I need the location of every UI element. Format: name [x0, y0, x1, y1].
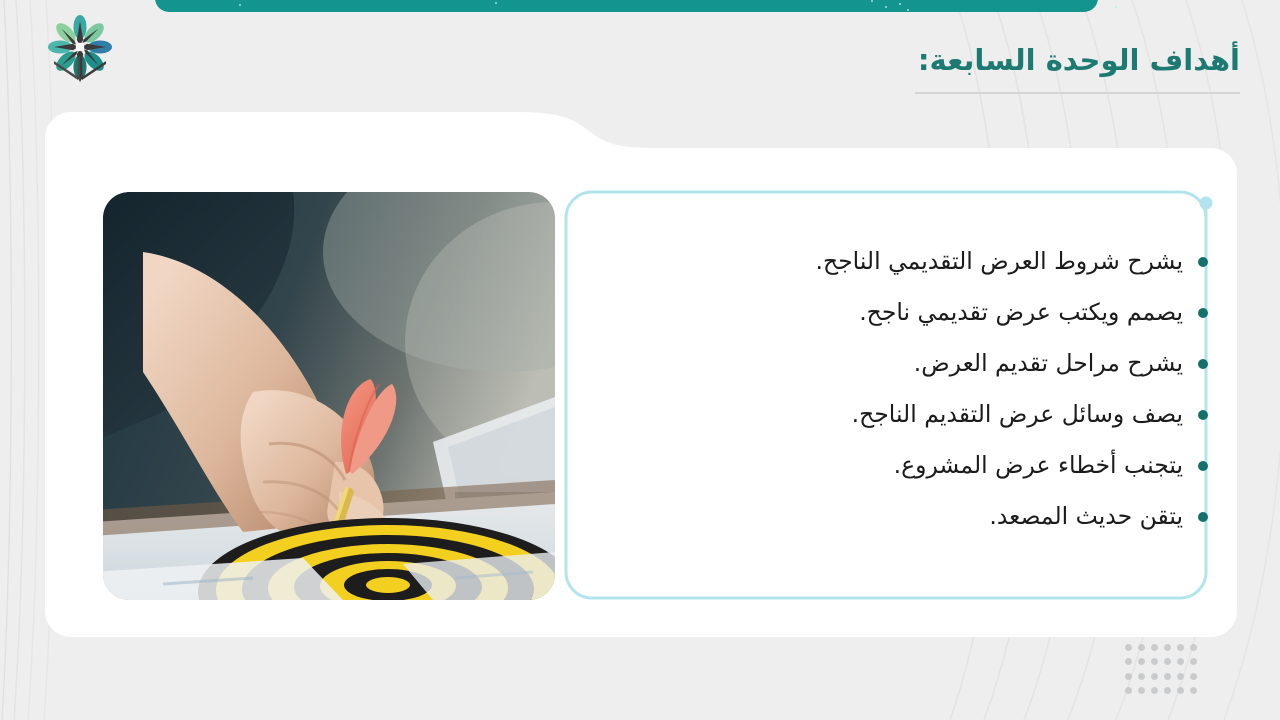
objectives-list: يشرح شروط العرض التقديمي الناجح. يصمم وي…	[588, 236, 1208, 542]
top-accent-bar	[155, 0, 1098, 12]
objective-text: يشرح مراحل تقديم العرض.	[914, 348, 1183, 380]
list-item: يتقن حديث المصعد.	[588, 491, 1208, 542]
slide-canvas: أهداف الوحدة السابعة:	[0, 0, 1280, 720]
bullet-dot-icon	[1198, 410, 1208, 420]
bullet-dot-icon	[1198, 257, 1208, 267]
objective-text: يشرح شروط العرض التقديمي الناجح.	[816, 246, 1184, 278]
list-item: يصمم ويكتب عرض تقديمي ناجح.	[588, 287, 1208, 338]
bullet-dot-icon	[1198, 512, 1208, 522]
list-item: يشرح شروط العرض التقديمي الناجح.	[588, 236, 1208, 287]
dart-on-target-photo	[103, 192, 555, 600]
title-divider	[915, 92, 1240, 94]
list-item: يصف وسائل عرض التقديم الناجح.	[588, 389, 1208, 440]
dot-grid-decoration	[1122, 640, 1200, 698]
objective-text: يتجنب أخطاء عرض المشروع.	[894, 450, 1183, 482]
objective-text: يتقن حديث المصعد.	[989, 501, 1183, 533]
objective-text: يصمم ويكتب عرض تقديمي ناجح.	[859, 297, 1183, 329]
tvtc-logo	[44, 14, 116, 86]
list-item: يشرح مراحل تقديم العرض.	[588, 338, 1208, 389]
list-item: يتجنب أخطاء عرض المشروع.	[588, 440, 1208, 491]
bullet-dot-icon	[1198, 359, 1208, 369]
page-title: أهداف الوحدة السابعة:	[820, 42, 1240, 78]
objective-text: يصف وسائل عرض التقديم الناجح.	[852, 399, 1183, 431]
page-title-block: أهداف الوحدة السابعة:	[820, 42, 1240, 94]
bullet-dot-icon	[1198, 461, 1208, 471]
bullet-dot-icon	[1198, 308, 1208, 318]
